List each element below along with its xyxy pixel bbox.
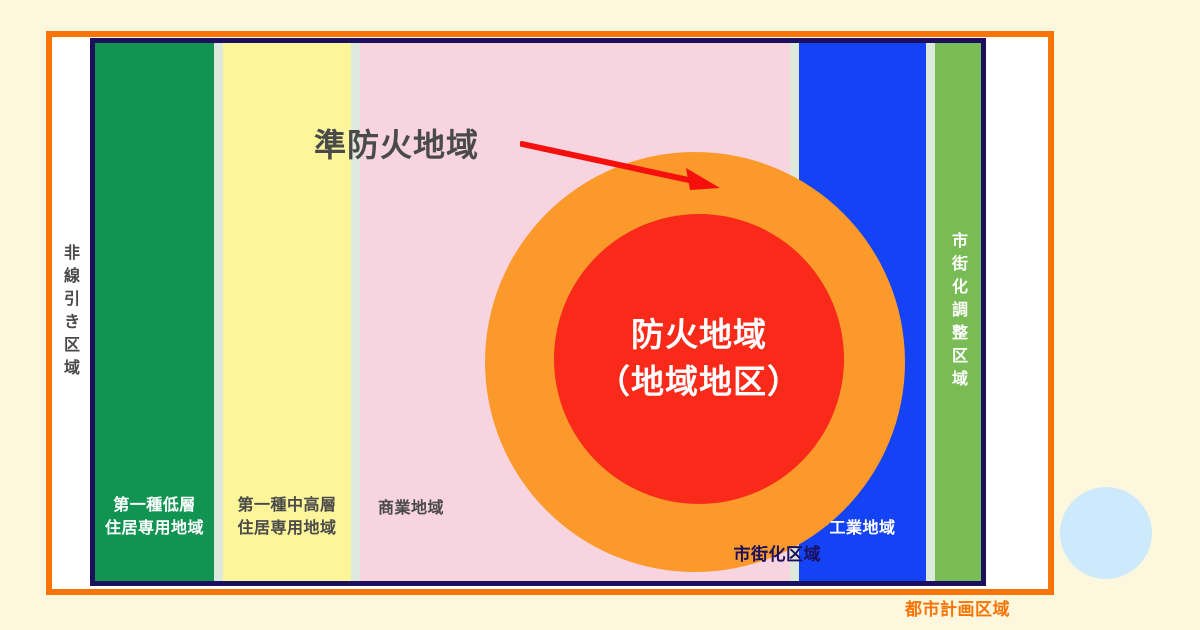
urbanization-promotion-area-frame: 第一種低層 住居専用地域 第一種中高層 住居専用地域 商業地域 工業地域 [90, 38, 986, 586]
zone-label-line-1: 第一種中高層 [237, 493, 336, 516]
zone-low-rise-residential: 第一種低層 住居専用地域 [95, 43, 214, 581]
fire-prevention-zone-core: 防火地域 （地域地区） [554, 214, 844, 504]
quasi-fire-prevention-zone-label: 準防火地域 [314, 120, 479, 166]
callout-arrow-icon [520, 138, 730, 198]
zone-label-line-2: 住居専用地域 [237, 516, 336, 539]
zone-mid-high-rise-residential-label: 第一種中高層 住居専用地域 [237, 493, 336, 539]
zone-separator [926, 43, 935, 581]
zone-separator [214, 43, 223, 581]
zone-label-line-1: 第一種低層 [105, 493, 204, 516]
zone-label-line-2: 住居専用地域 [105, 516, 204, 539]
non-zoned-area-label: 非線引き区域 [62, 244, 78, 382]
urbanization-promotion-area-caption: 市街化区域 [734, 540, 822, 565]
fire-prevention-zone-title: 防火地域 [631, 312, 767, 359]
non-zoned-area-strip: 非線引き区域 [52, 37, 88, 589]
urban-planning-area-caption: 都市計画区域 [905, 595, 1010, 620]
zone-urbanization-control-label: 市街化調整区域 [950, 232, 966, 393]
diagram-canvas: 非線引き区域 第一種低層 住居専用地域 第一種中高層 住居専用地域 商業地域 [0, 0, 1200, 630]
decorative-circle [1060, 487, 1152, 579]
zone-low-rise-residential-label: 第一種低層 住居専用地域 [105, 493, 204, 539]
fire-prevention-zone-subtitle: （地域地区） [597, 359, 801, 406]
zone-urbanization-control: 市街化調整区域 [935, 43, 981, 581]
zone-industrial-label: 工業地域 [829, 516, 895, 539]
zone-commercial-label: 商業地域 [378, 496, 444, 519]
